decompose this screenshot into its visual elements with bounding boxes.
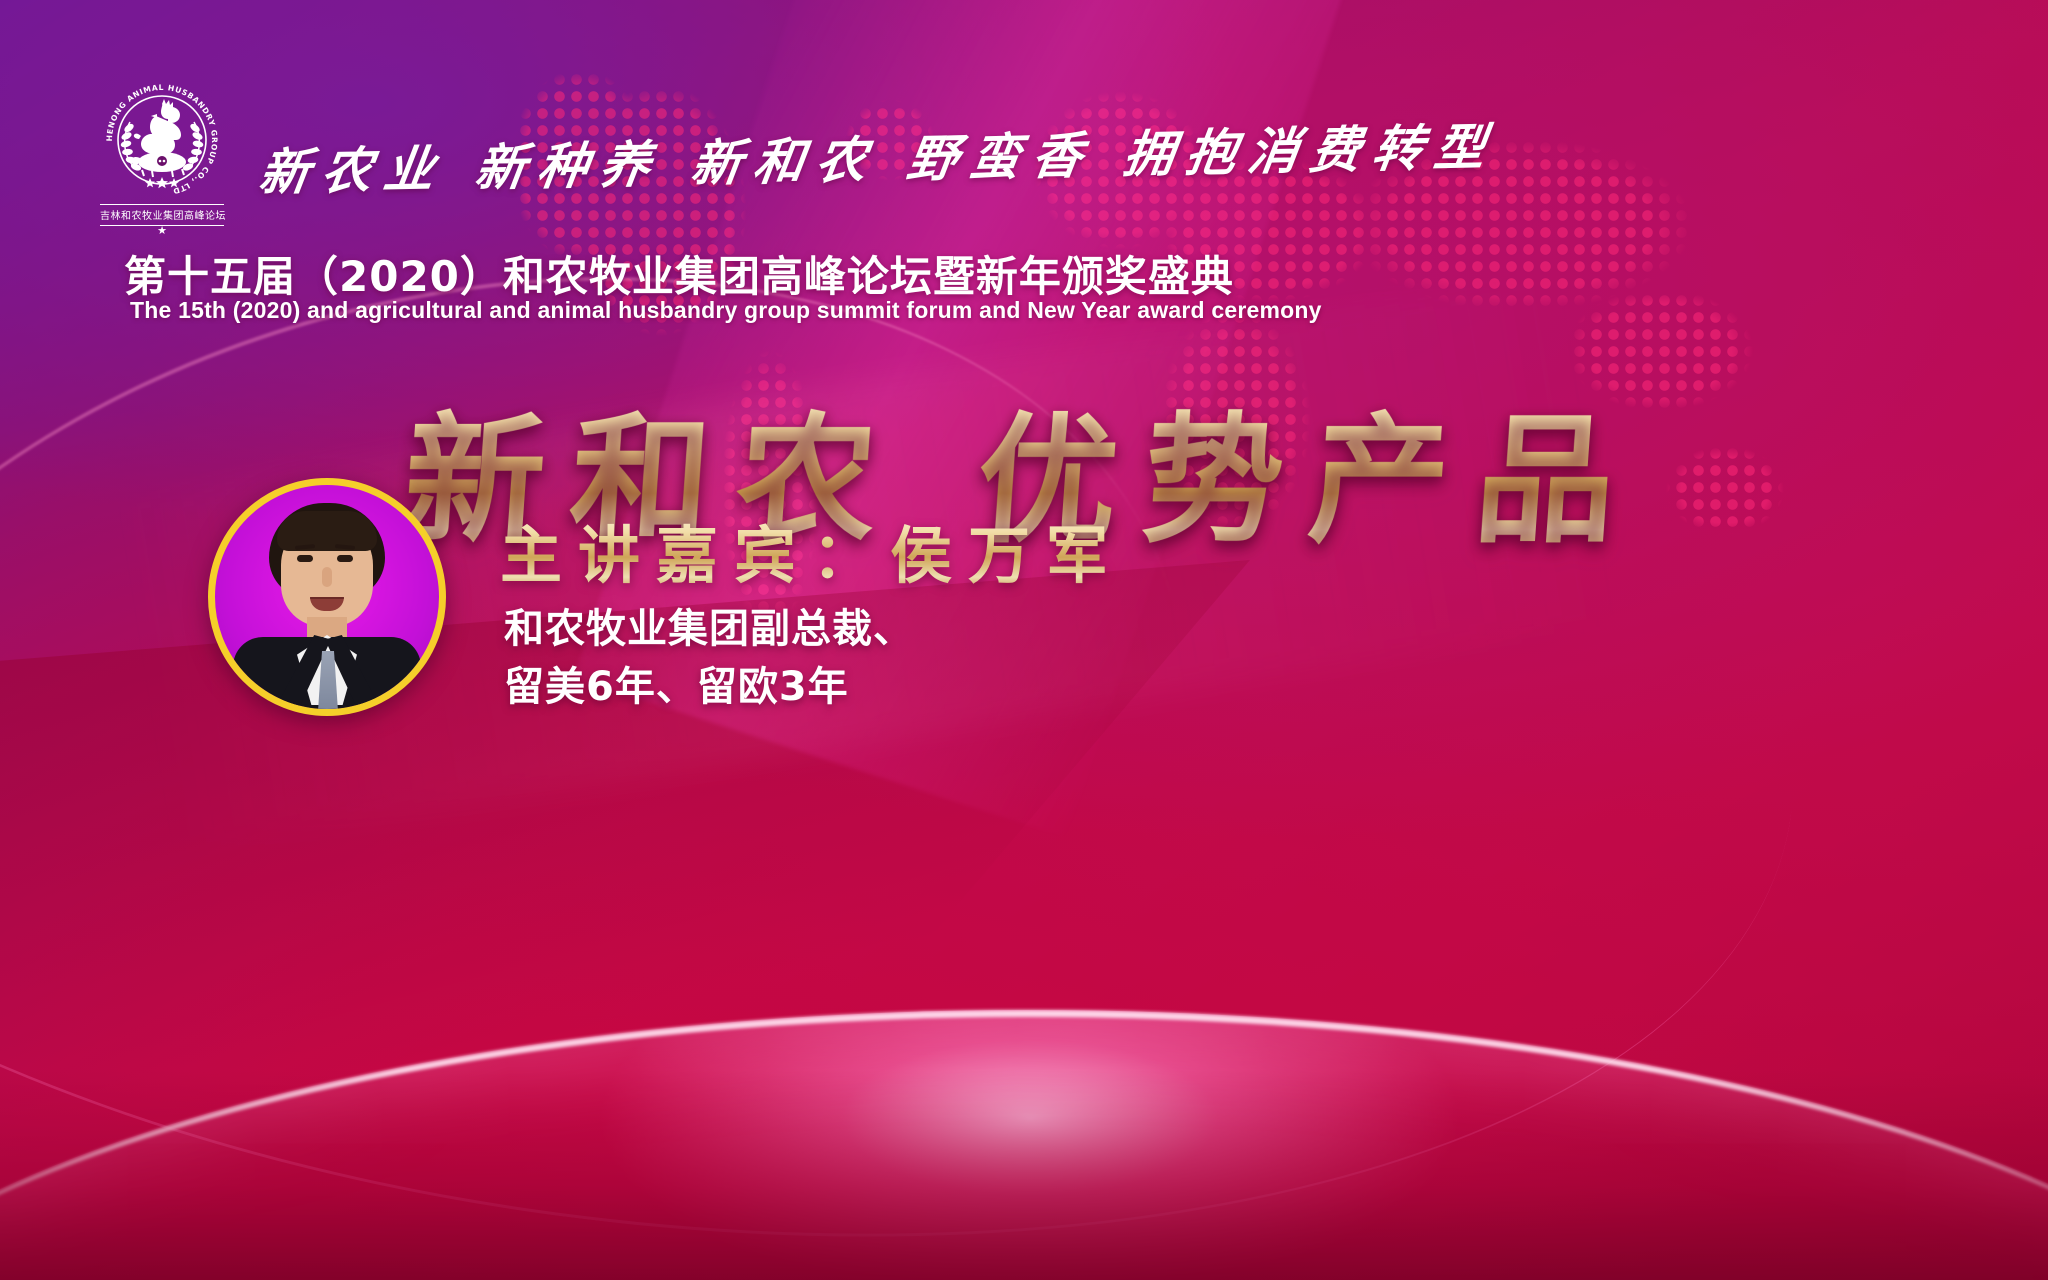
portrait-hair-front — [277, 511, 377, 551]
cow-icon — [134, 134, 175, 154]
speaker-bio: 和农牧业集团副总裁、 留美6年、留欧3年 — [504, 600, 914, 716]
floor-vignette — [0, 1070, 2048, 1280]
conference-title-cn: 第十五届（2020）和农牧业集团高峰论坛暨新年颁奖盛典 — [124, 243, 1234, 304]
logo-star-glyph: ★ — [100, 227, 224, 235]
portrait-eye-left — [297, 555, 313, 562]
logo-emblem-icon: CHINA JILIN HENONG ANIMAL HUSBANDRY GROU… — [100, 78, 224, 202]
rooster-icon — [150, 99, 181, 140]
company-logo: CHINA JILIN HENONG ANIMAL HUSBANDRY GROU… — [100, 78, 224, 235]
conference-title-en: The 15th (2020) and agricultural and ani… — [130, 297, 1322, 324]
portrait-nose — [322, 567, 332, 587]
speaker-name-label: 主讲嘉宾：侯万军 — [500, 505, 1124, 595]
speaker-portrait — [208, 478, 446, 716]
poster-canvas: CHINA JILIN HENONG ANIMAL HUSBANDRY GROU… — [0, 0, 2048, 1280]
logo-badge: CHINA JILIN HENONG ANIMAL HUSBANDRY GROU… — [100, 78, 224, 202]
pig-icon — [131, 152, 186, 177]
logo-ribbon-text: 吉林和农牧业集团高峰论坛 — [100, 204, 224, 226]
portrait-eye-right — [337, 555, 353, 562]
